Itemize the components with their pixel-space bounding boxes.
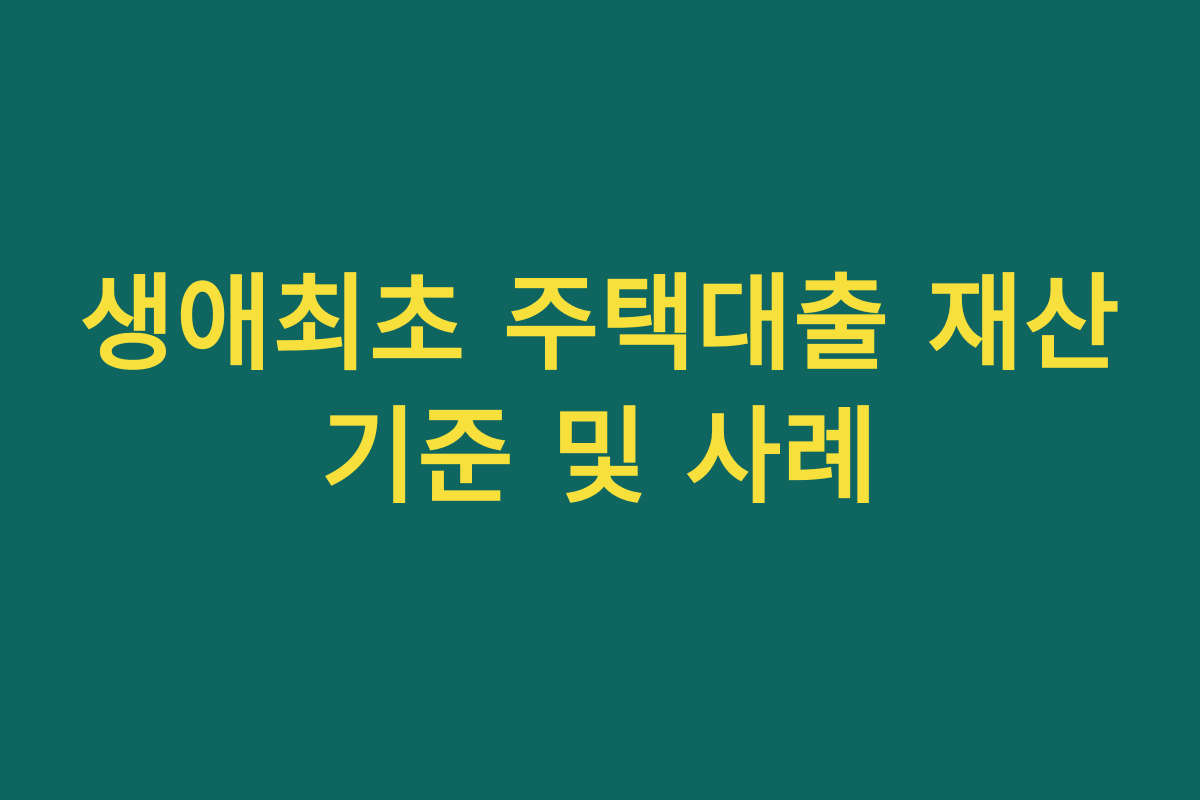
title-banner: 생애최초 주택대출 재산 기준 및 사례 (0, 0, 1200, 800)
page-title: 생애최초 주택대출 재산 기준 및 사례 (50, 258, 1150, 524)
page-title-line-2: 기준 및 사례 (321, 391, 879, 524)
page-title-line-1: 생애최초 주택대출 재산 (79, 258, 1120, 391)
